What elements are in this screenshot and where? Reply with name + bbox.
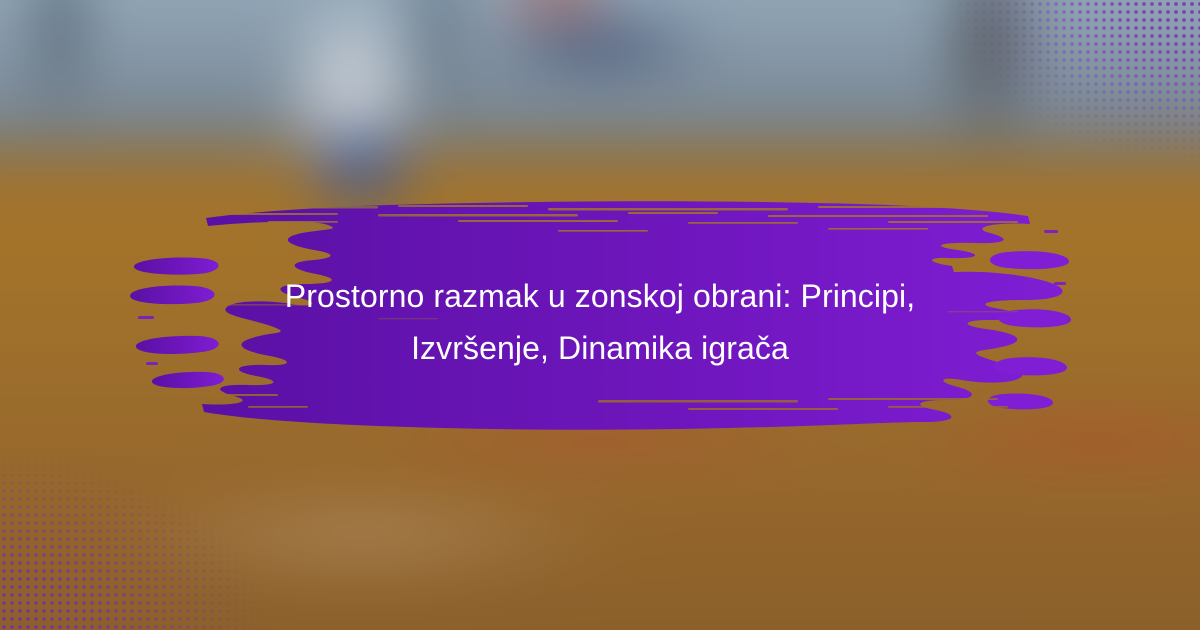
social-share-card: Prostorno razmak u zonskoj obrani: Princ…: [0, 0, 1200, 630]
halftone-dots-top-right: [900, 0, 1200, 195]
card-title: Prostorno razmak u zonskoj obrani: Princ…: [160, 270, 1040, 374]
